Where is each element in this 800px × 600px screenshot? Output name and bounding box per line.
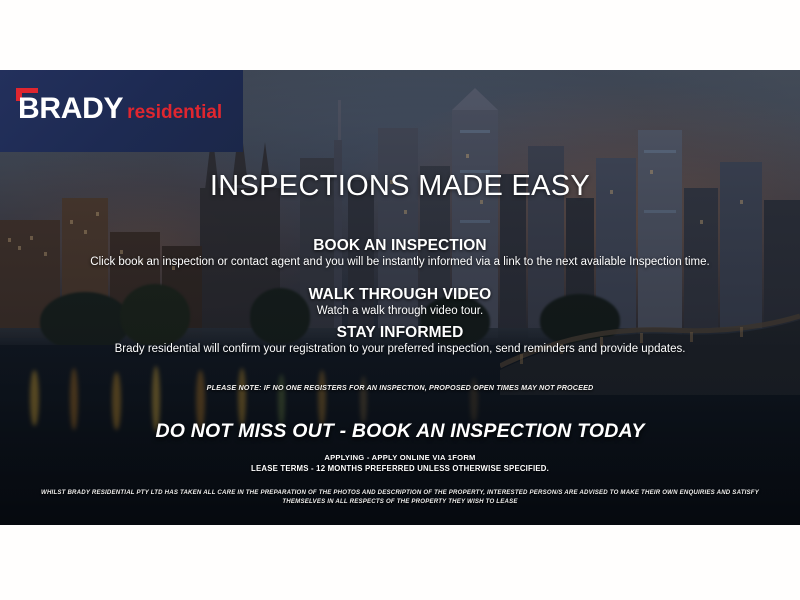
call-to-action-text: DO NOT MISS OUT - BOOK AN INSPECTION TOD… <box>0 420 800 443</box>
applying-text: APPLYING - APPLY ONLINE VIA 1FORM <box>0 453 800 462</box>
section-heading-stay-informed: STAY INFORMED <box>0 324 800 342</box>
section-body-book-inspection: Click book an inspection or contact agen… <box>0 255 800 269</box>
banner-content: INSPECTIONS MADE EASY BOOK AN INSPECTION… <box>0 70 800 525</box>
section-heading-walk-through-video: WALK THROUGH VIDEO <box>0 286 800 304</box>
please-note-text: PLEASE NOTE: IF NO ONE REGISTERS FOR AN … <box>0 383 800 392</box>
section-heading-book-inspection: BOOK AN INSPECTION <box>0 237 800 255</box>
section-body-stay-informed: Brady residential will confirm your regi… <box>0 342 800 356</box>
page-title: INSPECTIONS MADE EASY <box>0 170 800 203</box>
section-body-walk-through-video: Watch a walk through video tour. <box>0 304 800 318</box>
disclaimer-text: WHILST BRADY RESIDENTIAL PTY LTD HAS TAK… <box>0 488 800 506</box>
banner-image: BRADY residential INSPECTIONS MADE EASY … <box>0 0 800 600</box>
lease-terms-text: LEASE TERMS - 12 MONTHS PREFERRED UNLESS… <box>0 464 800 473</box>
